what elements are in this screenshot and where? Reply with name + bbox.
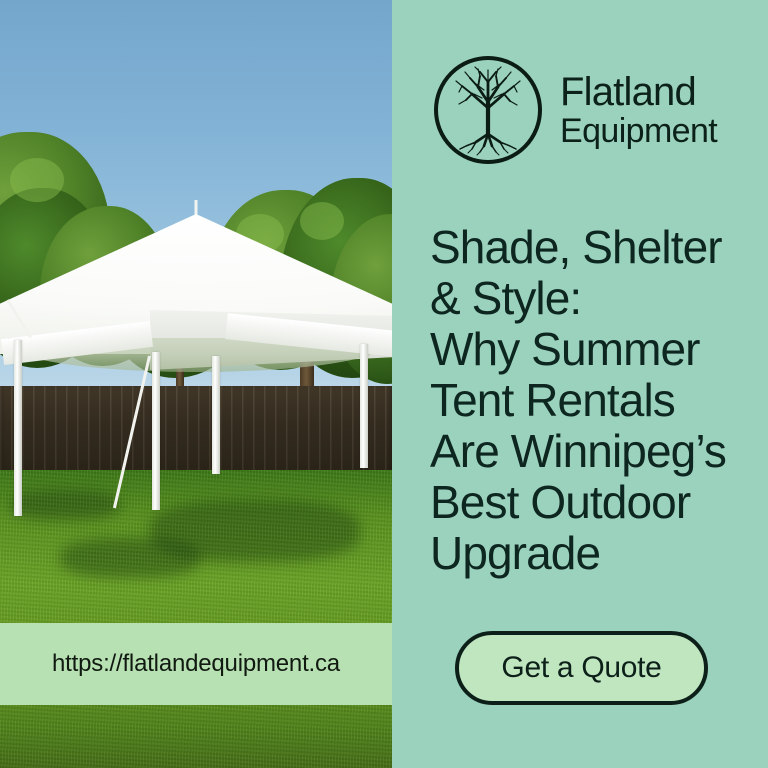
headline: Shade, Shelter & Style: Why Summer Tent … (430, 222, 760, 579)
headline-line-2: & Style: (430, 273, 760, 324)
tent-leg-far-right (360, 344, 368, 468)
get-a-quote-button[interactable]: Get a Quote (455, 631, 708, 705)
content-panel: Flatland Equipment Shade, Shelter & Styl… (392, 0, 768, 768)
headline-line-6: Best Outdoor (430, 477, 760, 528)
headline-line-7: Upgrade (430, 528, 760, 579)
brand-name: Flatland Equipment (560, 71, 717, 149)
website-url-bar[interactable]: https://flatlandequipment.ca (0, 623, 392, 705)
headline-line-3: Why Summer (430, 324, 760, 375)
tent-leg-center (152, 352, 160, 510)
social-promo-graphic: https://flatlandequipment.ca (0, 0, 768, 768)
brand-name-line1: Flatland (560, 71, 717, 113)
tent-photo: https://flatlandequipment.ca (0, 0, 392, 768)
brand-name-line2: Equipment (560, 113, 717, 149)
tree-circle-logo-icon (432, 54, 544, 166)
tent-guy-line (113, 356, 151, 509)
brand-lockup: Flatland Equipment (432, 54, 717, 166)
website-url-text: https://flatlandequipment.ca (52, 650, 340, 678)
tent-leg-front-left (14, 340, 22, 516)
get-a-quote-label: Get a Quote (501, 651, 661, 685)
headline-line-4: Tent Rentals (430, 375, 760, 426)
headline-line-1: Shade, Shelter (430, 222, 760, 273)
headline-line-5: Are Winnipeg’s (430, 426, 760, 477)
tent-leg-mid-right (212, 356, 220, 474)
